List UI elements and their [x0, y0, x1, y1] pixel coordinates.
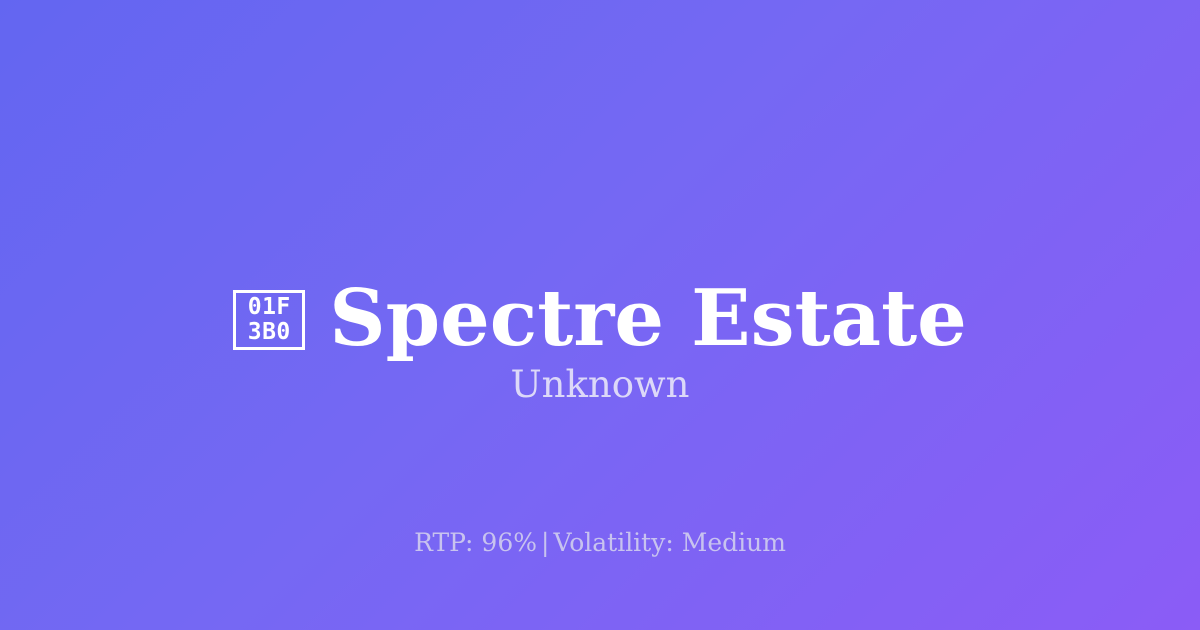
tofu-codepoint-upper: 01F: [248, 295, 291, 320]
slot-machine-icon: 01F 3B0: [233, 290, 305, 350]
game-og-card: 01F 3B0 Spectre Estate Unknown RTP: 96%|…: [0, 0, 1200, 630]
tofu-codepoint-lower: 3B0: [248, 320, 291, 345]
game-stats: RTP: 96%|Volatility: Medium: [0, 527, 1200, 560]
rtp-stat: RTP: 96%: [414, 528, 537, 557]
page-title: Spectre Estate: [329, 280, 966, 358]
provider-label: Unknown: [0, 362, 1200, 408]
stats-separator: |: [537, 528, 553, 557]
volatility-stat: Volatility: Medium: [553, 528, 785, 557]
